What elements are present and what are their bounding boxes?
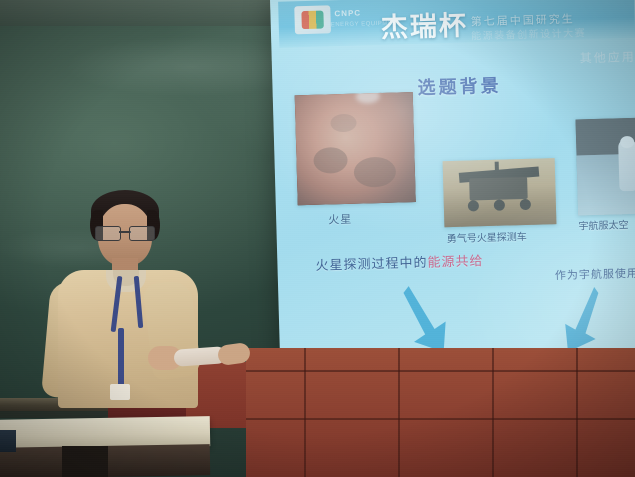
presenter — [36, 178, 251, 408]
slide-banner: CNPC ENERGY EQUIPMENT 杰瑞杯 第七届中国研究生 能源装备创… — [278, 0, 635, 48]
desk-leg — [62, 446, 108, 477]
banner-subtitle-2: 能源装备创新设计大赛 — [471, 24, 586, 42]
projector-wash — [576, 118, 635, 216]
left-statement: 火星探测过程中的能源共给 — [315, 250, 483, 274]
glasses-icon — [95, 226, 155, 239]
glasses-lens-left — [95, 226, 121, 241]
panel-seam — [492, 348, 494, 477]
logo-mark — [301, 11, 323, 30]
ceiling-band — [0, 0, 300, 26]
mars-photo — [295, 92, 416, 205]
id-badge — [110, 384, 130, 400]
panel-seam — [304, 348, 306, 477]
projection-screen: CNPC ENERGY EQUIPMENT 杰瑞杯 第七届中国研究生 能源装备创… — [270, 0, 635, 390]
wall-panels — [246, 348, 635, 477]
presenter-hand-right — [217, 342, 251, 366]
panel-seam — [398, 348, 400, 477]
right-statement: 作为宇航服使用 — [555, 265, 635, 283]
arrow-down-left-icon — [548, 285, 602, 354]
mars-photo-caption: 火星 — [328, 211, 352, 228]
mars-rover-photo-caption: 勇气号火星探测车 — [447, 228, 527, 245]
mars-rover-photo — [443, 158, 557, 227]
panel-seam — [576, 348, 578, 477]
projector-wash — [443, 158, 557, 227]
spacesuit-photo — [576, 118, 635, 216]
spacesuit-photo-caption: 宇航服太空 — [578, 216, 628, 232]
left-statement-highlight: 能源共给 — [427, 253, 483, 270]
lanyard-strap-down — [118, 328, 124, 390]
glasses-lens-right — [129, 226, 155, 241]
presentation-photo: CNPC ENERGY EQUIPMENT 杰瑞杯 第七届中国研究生 能源装备创… — [0, 0, 635, 477]
logo-text: CNPC — [334, 8, 361, 18]
competition-logo-icon — [294, 5, 331, 34]
slide-title: 选题背景 — [417, 72, 502, 100]
left-statement-prefix: 火星探测过程中的 — [315, 255, 427, 273]
arrow-down-right-icon — [400, 281, 454, 356]
banner-title: 杰瑞杯 — [380, 3, 468, 44]
book-on-desk — [0, 430, 16, 452]
corner-note: 其他应用 — [580, 48, 635, 67]
projector-wash — [295, 92, 416, 205]
